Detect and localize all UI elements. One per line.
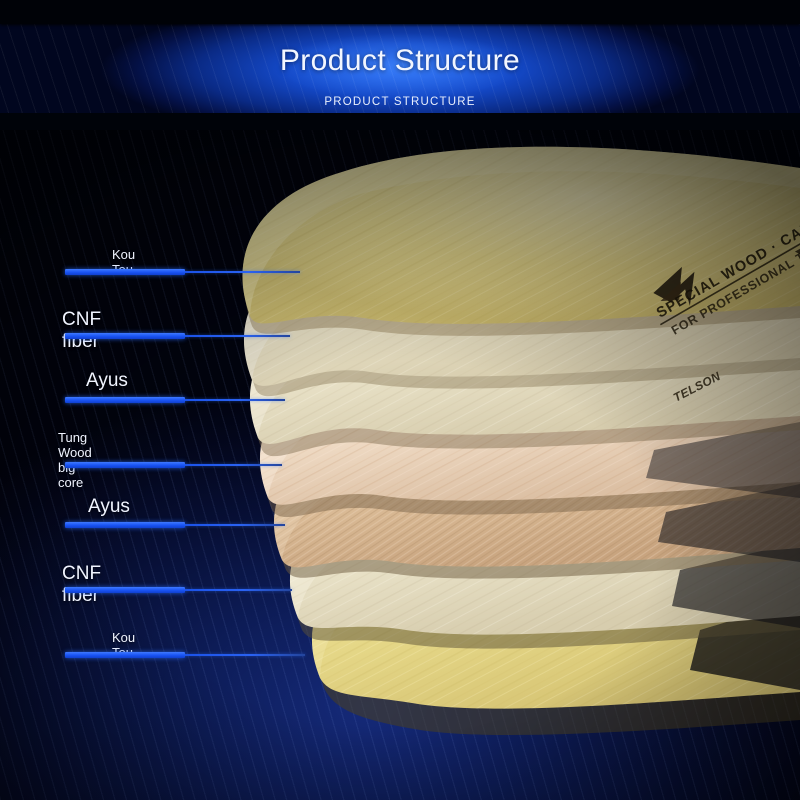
- layer-leader-line-layer-4: [185, 464, 282, 466]
- layer-leader-bar-layer-5: [65, 522, 185, 528]
- layer-label-layer-3: Ayus: [86, 370, 128, 392]
- header-top-band: [0, 0, 800, 24]
- product-structure-infographic: Product Structure PRODUCT STRUCTURE: [0, 0, 800, 800]
- header-bottom-band: [0, 113, 800, 130]
- page-subtitle: PRODUCT STRUCTURE: [0, 96, 800, 108]
- layer-leader-bar-layer-4: [65, 462, 185, 468]
- header-banner: Product Structure PRODUCT STRUCTURE: [0, 0, 800, 130]
- page-title: Product Structure: [0, 44, 800, 78]
- layer-label-layer-6: CNF fiber: [62, 563, 101, 607]
- layer-leader-line-layer-2: [185, 335, 290, 337]
- layer-label-layer-2: CNF fiber: [62, 309, 101, 353]
- layer-leader-bar-layer-3: [65, 397, 185, 403]
- layer-leader-line-layer-6: [185, 589, 292, 591]
- layer-leader-bar-layer-1: [65, 269, 185, 275]
- layer-label-layer-5: Ayus: [88, 496, 130, 518]
- layer-leader-line-layer-5: [185, 524, 285, 526]
- layer-leader-line-layer-1: [185, 271, 300, 273]
- layer-leader-bar-layer-7: [65, 652, 185, 658]
- layer-leader-line-layer-3: [185, 399, 285, 401]
- layer-leader-line-layer-7: [185, 654, 305, 656]
- layer-label-layer-4: Tung Wood big core: [58, 430, 92, 490]
- layer-leader-bar-layer-6: [65, 587, 185, 593]
- layer-leader-bar-layer-2: [65, 333, 185, 339]
